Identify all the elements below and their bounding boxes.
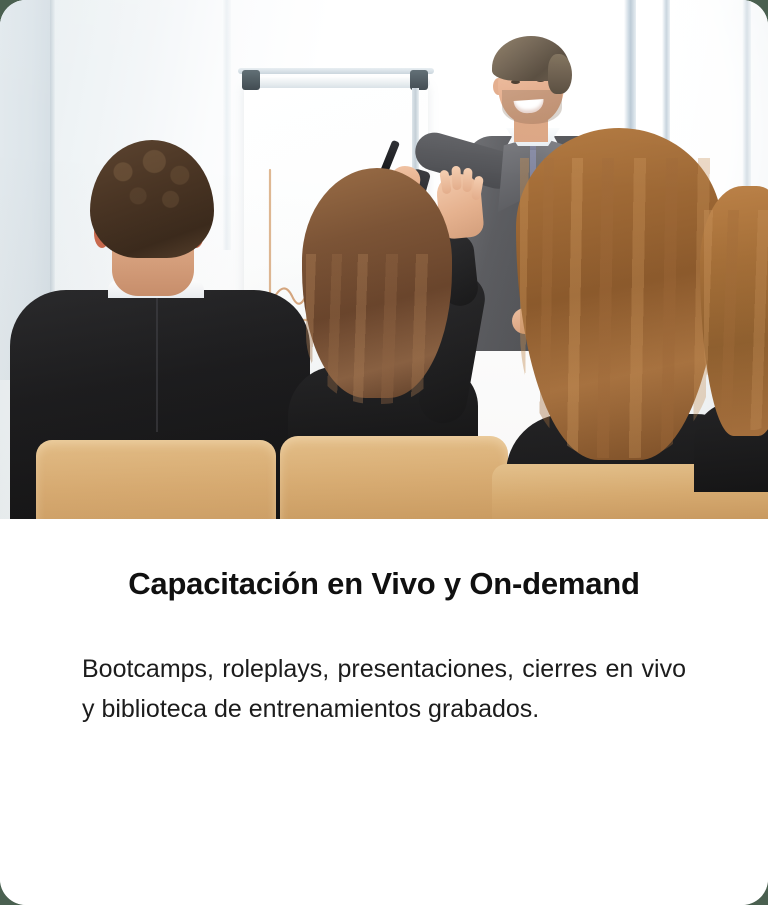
card-title: Capacitación en Vivo y On-demand <box>82 566 686 603</box>
attendee-mid-figure <box>288 168 528 519</box>
attendee-far-figure <box>700 186 768 486</box>
training-session-photo <box>0 0 768 519</box>
attendee-hair-texture <box>306 254 448 404</box>
hand-finger <box>462 168 472 192</box>
presenter-hair <box>548 54 572 94</box>
attendee-hair-texture <box>704 210 768 430</box>
hand-finger <box>451 166 461 190</box>
card-body: Capacitación en Vivo y On-demand Bootcam… <box>0 519 768 905</box>
attendee-hair-texture <box>520 158 718 458</box>
flipchart-rail <box>238 68 434 74</box>
attendee-hair-texture <box>94 146 210 232</box>
wooden-chair <box>36 440 276 519</box>
card-description: Bootcamps, roleplays, presentaciones, ci… <box>82 649 686 730</box>
suit-seam <box>156 292 158 432</box>
wooden-chair <box>280 436 508 519</box>
feature-card: Capacitación en Vivo y On-demand Bootcam… <box>0 0 768 905</box>
card-media <box>0 0 768 519</box>
